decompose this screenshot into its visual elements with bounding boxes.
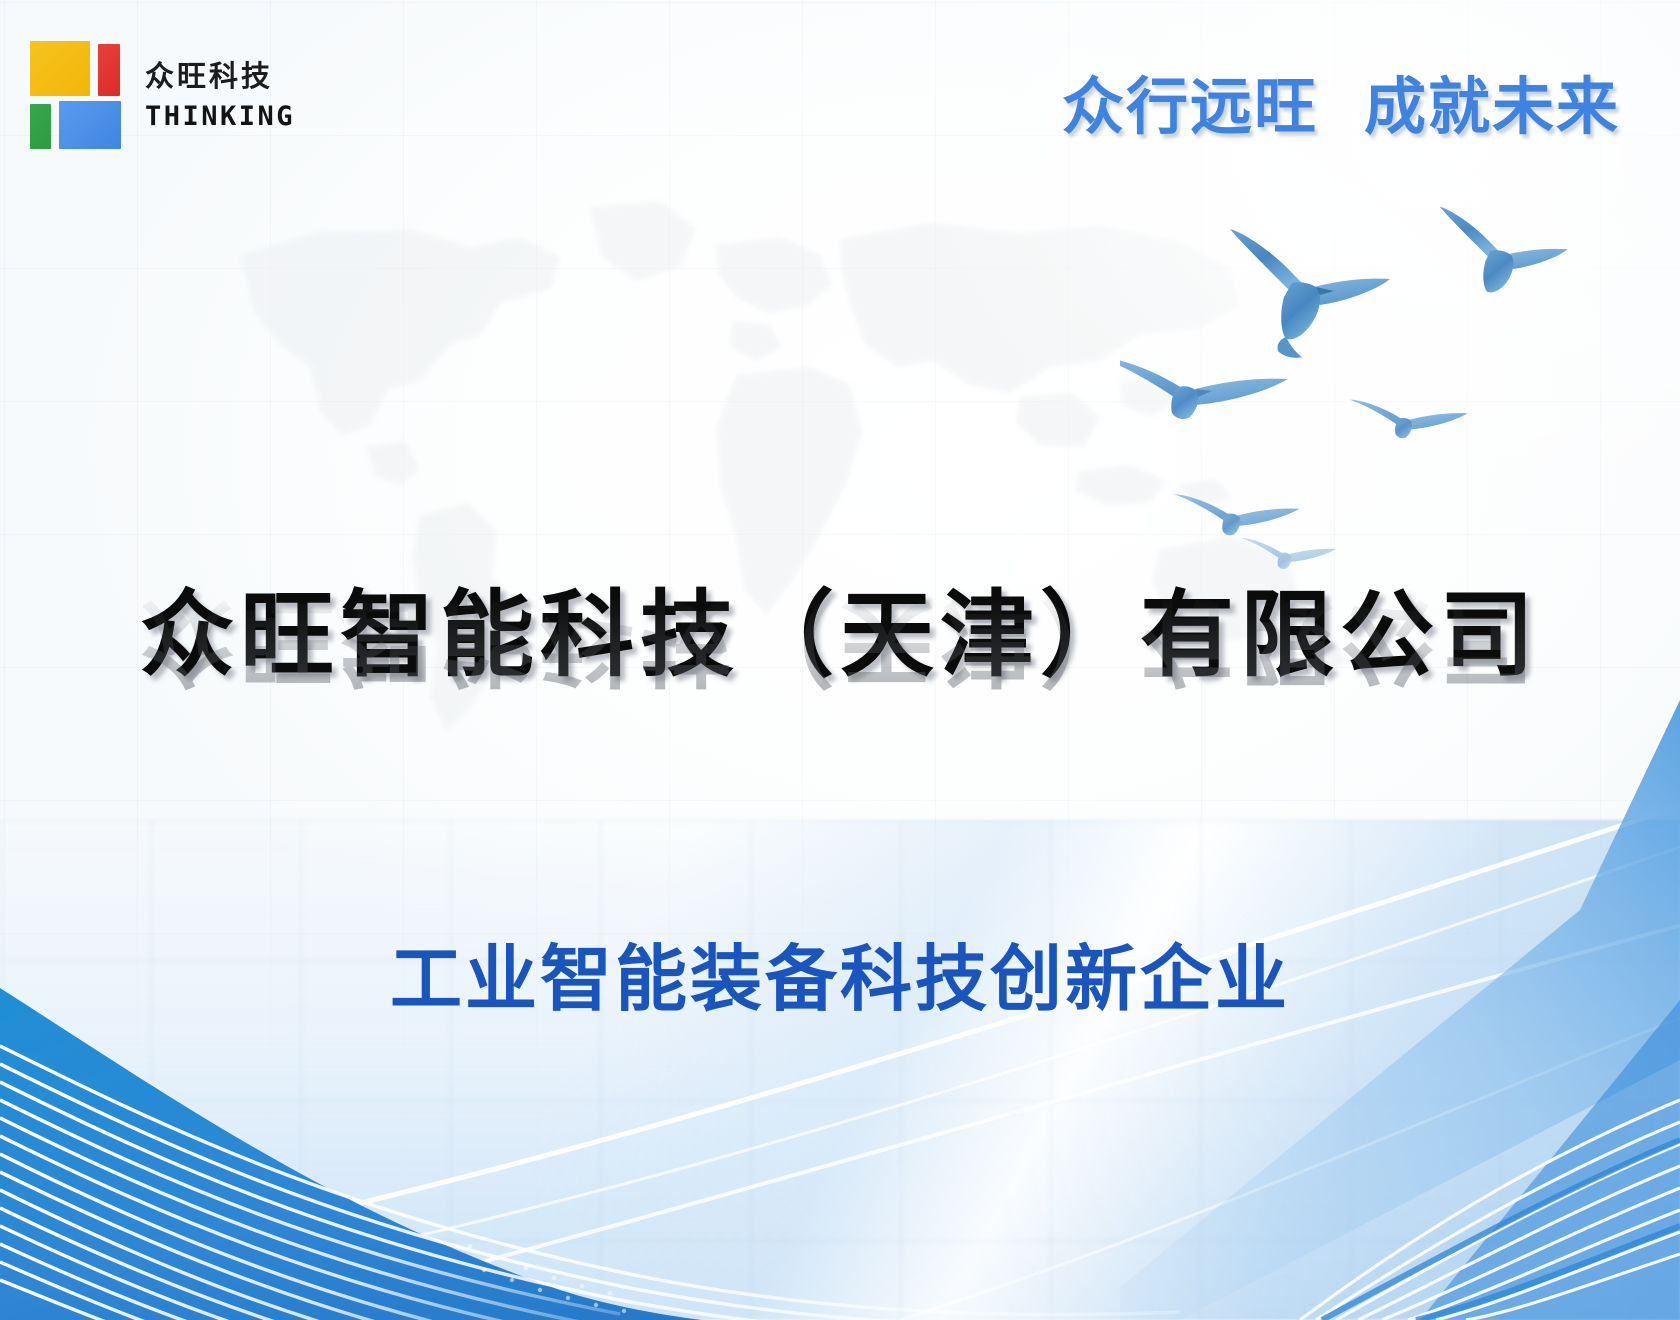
logo-chinese-name: 众旺科技: [145, 59, 295, 94]
yellow-block-icon: [30, 41, 90, 96]
red-block-icon: [98, 44, 120, 96]
tagline-part-2: 成就未来: [1364, 70, 1620, 143]
page-subtitle: 工业智能装备科技创新企业: [0, 920, 1680, 1025]
title-block: 众旺智能科技（天津）有限公司 众旺智能科技（天津）有限公司: [0, 585, 1680, 792]
tagline-part-1: 众行远旺: [1062, 70, 1318, 143]
blue-block-icon: [59, 101, 121, 149]
logo-color-blocks: [30, 41, 123, 149]
flying-seagulls: [1120, 195, 1640, 625]
logo-english-name: THINKING: [145, 103, 295, 130]
bottom-right-line-fan: [1060, 980, 1680, 1320]
company-logo[interactable]: 众旺科技 THINKING: [30, 32, 300, 157]
page-title: 众旺智能科技（天津）有限公司: [0, 585, 1680, 687]
green-block-icon: [30, 104, 51, 149]
logo-wordmark: 众旺科技 THINKING: [145, 41, 295, 149]
presentation-slide: 众旺科技 THINKING 众行远旺成就未来 众旺智能科技（天津）有限公司 众旺…: [0, 0, 1680, 1320]
slide-tagline: 众行远旺成就未来: [1062, 56, 1620, 146]
